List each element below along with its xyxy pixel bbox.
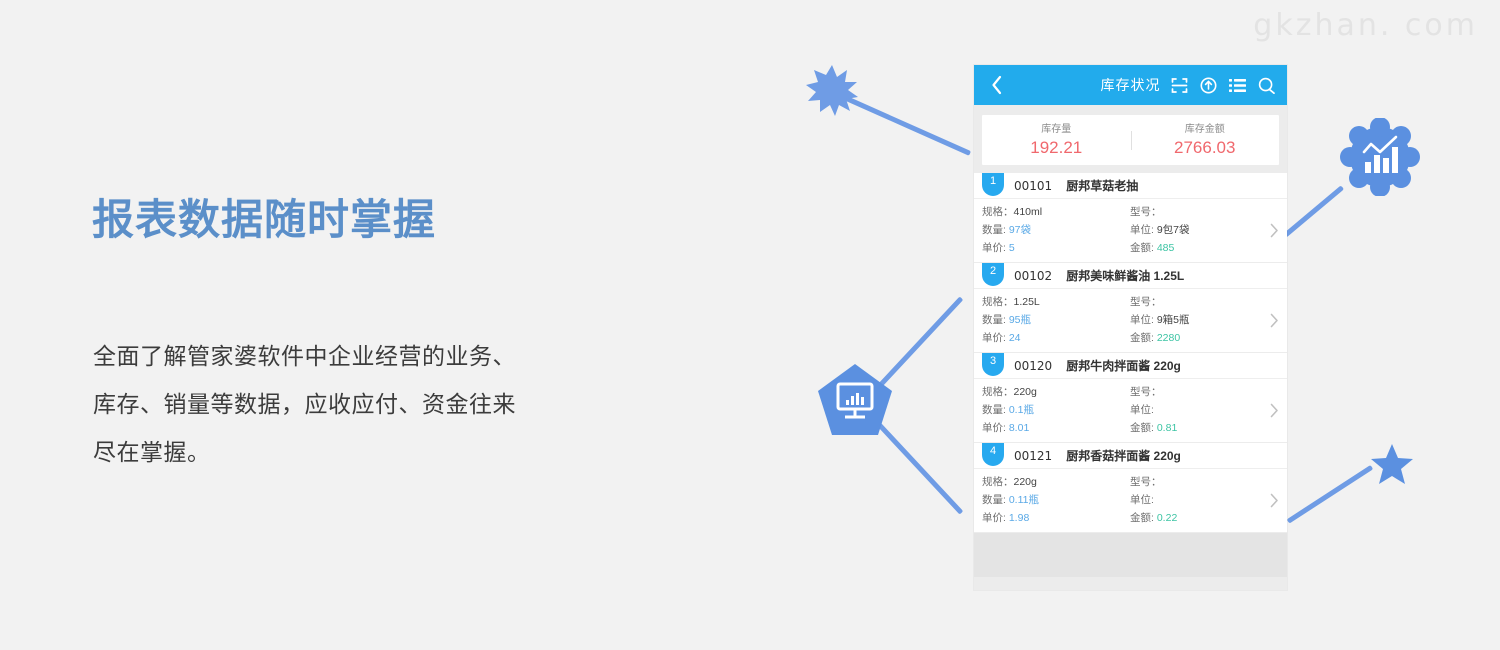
list-item[interactable]: 3 00120 厨邦牛肉拌面酱 220g 规格：220g 型号： 数量: 0.1…: [974, 353, 1287, 442]
paragraph-line-1: 全面了解管家婆软件中企业经营的业务、: [93, 332, 613, 380]
app-mockup: 库存状况: [974, 65, 1287, 590]
product-body: 规格：1.25L 型号： 数量: 95瓶 单位: 9箱5瓶 单价: 24 金额:…: [974, 289, 1287, 352]
product-body: 规格：220g 型号： 数量: 0.1瓶 单位: 单价: 8.01 金额: 0.…: [974, 379, 1287, 442]
field-label-price: 单价:: [982, 242, 1006, 254]
product-code: 00121: [1014, 449, 1052, 463]
burst-icon: [806, 65, 858, 116]
pentagon-monitor-badge: [816, 362, 894, 438]
product-fields: 规格：1.25L 型号： 数量: 95瓶 单位: 9箱5瓶 单价: 24 金额:…: [974, 294, 1261, 346]
product-body: 规格：410ml 型号： 数量: 97袋 单位: 9包7袋 单价: 5 金额: …: [974, 199, 1287, 262]
list-item[interactable]: 4 00121 厨邦香菇拌面酱 220g 规格：220g 型号： 数量: 0.1…: [974, 443, 1287, 532]
field-qty: 数量: 0.1瓶: [974, 402, 1124, 418]
field-value-amount: 2280: [1157, 332, 1180, 344]
summary-section: 库存量 192.21 库存金额 2766.03: [974, 105, 1287, 173]
field-label-amount: 金额:: [1130, 422, 1154, 434]
field-value-spec: 220g: [1014, 386, 1037, 398]
field-label-price: 单价:: [982, 422, 1006, 434]
burst-star-badge: [806, 63, 858, 117]
field-label-qty: 数量:: [982, 314, 1006, 326]
field-model: 型号：: [1124, 474, 1261, 490]
field-value-price: 1.98: [1009, 512, 1029, 524]
search-icon[interactable]: [1257, 76, 1275, 94]
product-header: 1 00101 厨邦草菇老抽: [974, 173, 1287, 199]
chevron-right-icon[interactable]: [1261, 313, 1287, 328]
paragraph-line-3: 尽在掌握。: [93, 428, 613, 476]
header-icon-group: [1170, 76, 1275, 94]
product-code: 00102: [1014, 269, 1052, 283]
summary-label: 库存量: [982, 123, 1131, 137]
field-amount: 金额: 0.22: [1124, 510, 1261, 526]
summary-value: 2766.03: [1131, 137, 1280, 158]
field-amount: 金额: 485: [1124, 240, 1261, 256]
field-value-qty: 0.11瓶: [1009, 494, 1039, 506]
field-value-price: 5: [1009, 242, 1015, 254]
field-price: 单价: 8.01: [974, 420, 1124, 436]
field-value-qty: 97袋: [1009, 224, 1031, 236]
field-value-unit: 9箱5瓶: [1157, 314, 1190, 326]
field-model: 型号：: [1124, 204, 1261, 220]
connector-line-right-bottom: [1287, 465, 1374, 524]
field-value-spec: 410ml: [1014, 206, 1043, 218]
scan-icon[interactable]: [1170, 76, 1188, 94]
field-label-amount: 金额:: [1130, 512, 1154, 524]
field-label-model: 型号：: [1130, 296, 1162, 308]
product-body: 规格：220g 型号： 数量: 0.11瓶 单位: 单价: 1.98 金额: 0…: [974, 469, 1287, 532]
field-value-unit: 9包7袋: [1157, 224, 1190, 236]
marketing-paragraph: 全面了解管家婆软件中企业经营的业务、 库存、销量等数据，应收应付、资金往来 尽在…: [93, 332, 613, 476]
field-label-model: 型号：: [1130, 386, 1162, 398]
app-header: 库存状况: [974, 65, 1287, 105]
field-label-spec: 规格：: [982, 476, 1014, 488]
site-watermark: gkzhan. com: [1253, 8, 1478, 43]
field-label-spec: 规格：: [982, 206, 1014, 218]
field-value-price: 24: [1009, 332, 1021, 344]
field-value-qty: 95瓶: [1009, 314, 1031, 326]
field-label-spec: 规格：: [982, 296, 1014, 308]
field-label-spec: 规格：: [982, 386, 1014, 398]
field-label-qty: 数量:: [982, 404, 1006, 416]
chevron-left-icon: [994, 77, 1001, 93]
sequence-badge: 2: [982, 263, 1004, 286]
sequence-badge: 1: [982, 173, 1004, 196]
field-label-amount: 金额:: [1130, 242, 1154, 254]
field-label-unit: 单位:: [1130, 224, 1154, 236]
list-item[interactable]: 2 00102 厨邦美味鲜酱油 1.25L 规格：1.25L 型号： 数量: 9…: [974, 263, 1287, 352]
field-label-model: 型号：: [1130, 206, 1162, 218]
sequence-badge: 3: [982, 353, 1004, 376]
summary-card: 库存量 192.21 库存金额 2766.03: [982, 115, 1279, 165]
field-unit: 单位: 9包7袋: [1124, 222, 1261, 238]
upload-circle-icon[interactable]: [1199, 76, 1217, 94]
field-value-amount: 0.22: [1157, 512, 1177, 524]
product-header: 2 00102 厨邦美味鲜酱油 1.25L: [974, 263, 1287, 289]
field-qty: 数量: 0.11瓶: [974, 492, 1124, 508]
field-value-price: 8.01: [1009, 422, 1029, 434]
field-label-model: 型号：: [1130, 476, 1162, 488]
summary-cell-stock-qty: 库存量 192.21: [982, 123, 1131, 158]
product-fields: 规格：410ml 型号： 数量: 97袋 单位: 9包7袋 单价: 5 金额: …: [974, 204, 1261, 256]
field-label-unit: 单位:: [1130, 494, 1154, 506]
field-label-amount: 金额:: [1130, 332, 1154, 344]
field-value-amount: 485: [1157, 242, 1175, 254]
field-value-spec: 1.25L: [1014, 296, 1040, 308]
product-code: 00120: [1014, 359, 1052, 373]
summary-label: 库存金额: [1131, 123, 1280, 137]
field-price: 单价: 1.98: [974, 510, 1124, 526]
field-label-qty: 数量:: [982, 224, 1006, 236]
list-icon[interactable]: [1228, 76, 1246, 94]
product-code: 00101: [1014, 179, 1052, 193]
page-root: gkzhan. com 报表数据随时掌握 全面了解管家婆软件中企业经营的业务、 …: [0, 0, 1500, 650]
field-qty: 数量: 97袋: [974, 222, 1124, 238]
summary-value: 192.21: [982, 137, 1131, 158]
field-spec: 规格：220g: [974, 474, 1124, 490]
field-price: 单价: 5: [974, 240, 1124, 256]
field-spec: 规格：410ml: [974, 204, 1124, 220]
field-value-qty: 0.1瓶: [1009, 404, 1034, 416]
product-name: 厨邦牛肉拌面酱 220g: [1066, 357, 1181, 374]
field-label-qty: 数量:: [982, 494, 1006, 506]
field-qty: 数量: 95瓶: [974, 312, 1124, 328]
field-amount: 金额: 2280: [1124, 330, 1261, 346]
product-name: 厨邦草菇老抽: [1066, 177, 1138, 194]
field-unit: 单位:: [1124, 402, 1261, 418]
paragraph-line-2: 库存、销量等数据，应收应付、资金往来: [93, 380, 613, 428]
field-model: 型号：: [1124, 294, 1261, 310]
list-footer-spacer: [974, 533, 1287, 577]
product-name: 厨邦美味鲜酱油 1.25L: [1066, 267, 1184, 284]
field-value-spec: 220g: [1014, 476, 1037, 488]
five-point-star-badge: [1370, 443, 1414, 486]
field-label-unit: 单位:: [1130, 314, 1154, 326]
chevron-right-icon[interactable]: [1261, 223, 1287, 238]
product-name: 厨邦香菇拌面酱 220g: [1066, 447, 1181, 464]
chevron-right-icon[interactable]: [1261, 403, 1287, 418]
field-spec: 规格：220g: [974, 384, 1124, 400]
scalloped-chart-badge: [1340, 118, 1420, 196]
product-header: 3 00120 厨邦牛肉拌面酱 220g: [974, 353, 1287, 379]
product-list: 1 00101 厨邦草菇老抽 规格：410ml 型号： 数量: 97袋 单位: …: [974, 173, 1287, 577]
star-icon: [1371, 444, 1413, 484]
field-price: 单价: 24: [974, 330, 1124, 346]
chevron-right-icon[interactable]: [1261, 493, 1287, 508]
field-model: 型号：: [1124, 384, 1261, 400]
field-label-unit: 单位:: [1130, 404, 1154, 416]
summary-cell-stock-amount: 库存金额 2766.03: [1131, 123, 1280, 158]
product-fields: 规格：220g 型号： 数量: 0.1瓶 单位: 单价: 8.01 金额: 0.…: [974, 384, 1261, 436]
list-item[interactable]: 1 00101 厨邦草菇老抽 规格：410ml 型号： 数量: 97袋 单位: …: [974, 173, 1287, 262]
sequence-badge: 4: [982, 443, 1004, 466]
field-label-price: 单价:: [982, 332, 1006, 344]
field-unit: 单位:: [1124, 492, 1261, 508]
field-amount: 金额: 0.81: [1124, 420, 1261, 436]
page-title: 报表数据随时掌握: [92, 196, 436, 244]
field-value-amount: 0.81: [1157, 422, 1177, 434]
connector-line-right-top: [1283, 185, 1344, 237]
product-header: 4 00121 厨邦香菇拌面酱 220g: [974, 443, 1287, 469]
field-unit: 单位: 9箱5瓶: [1124, 312, 1261, 328]
field-label-price: 单价:: [982, 512, 1006, 524]
product-fields: 规格：220g 型号： 数量: 0.11瓶 单位: 单价: 1.98 金额: 0…: [974, 474, 1261, 526]
back-button[interactable]: [986, 74, 1008, 96]
field-spec: 规格：1.25L: [974, 294, 1124, 310]
